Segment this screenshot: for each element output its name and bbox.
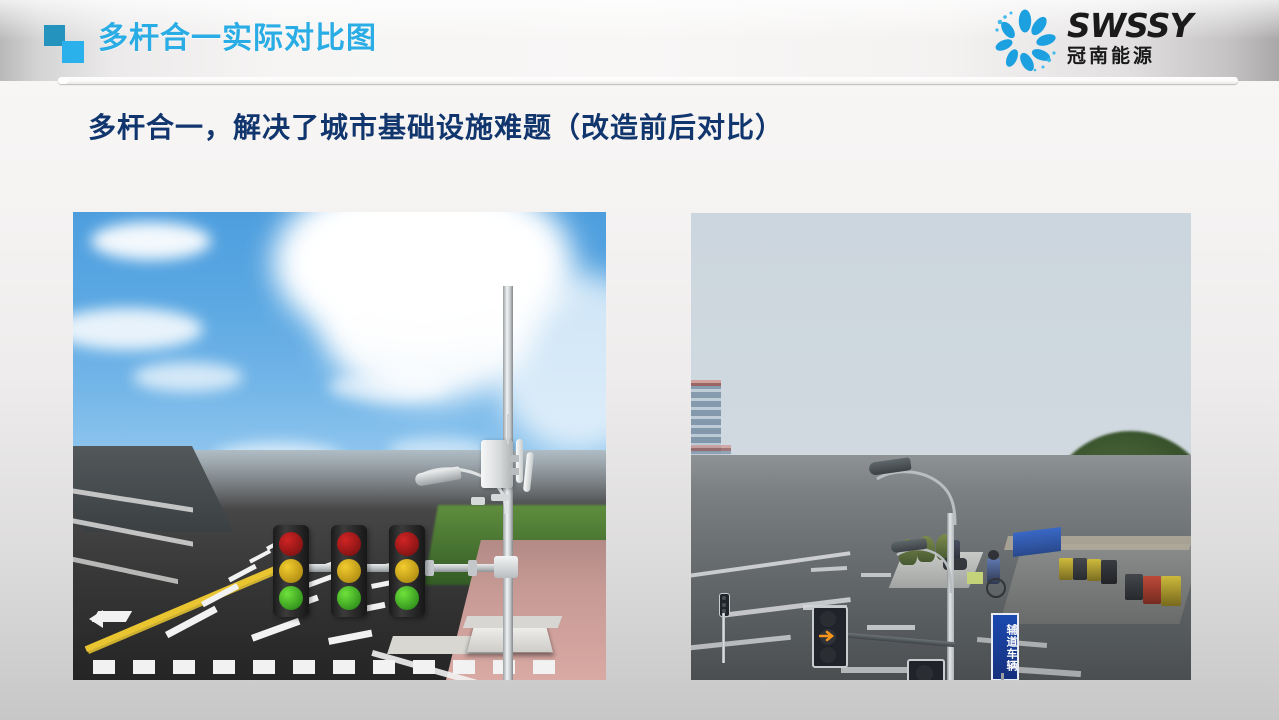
slide-subtitle: 多杆合一，解决了城市基础设施难题（改造前后对比） [88,106,784,146]
signal-red-lamp-icon [337,532,361,556]
parked-share-bike [1143,576,1161,604]
render-after-image [73,212,606,680]
lane-marking [867,625,915,630]
cloud [328,372,448,402]
signal-dark-lamp-icon [820,647,836,663]
parked-share-bike [1161,576,1181,606]
sign-post [1001,673,1004,680]
company-logo: SWSSY 冠南能源 [991,6,1261,76]
signal-green-lamp-icon [337,586,361,610]
cloud [133,362,243,392]
whip-antenna-icon [507,414,509,444]
signal-red-lamp-icon [395,532,419,556]
parked-share-bike [1101,560,1117,584]
cloud [91,222,211,260]
water-droplet-flower-icon [991,8,1059,74]
signal-dark-lamp-icon [820,611,836,627]
arm-pole-joint [494,556,518,578]
signal-yellow-lamp-icon [337,559,361,583]
5g-antenna-cabinet [481,440,513,488]
cyclist-head [988,550,999,560]
street-lamp-upper-arm [869,465,961,527]
left-turn-arrow-signal [812,606,848,668]
curb [1004,536,1191,550]
blue-canopy [1013,527,1061,557]
header-divider-cap [58,77,68,84]
lane-marking [691,635,791,653]
overhead-traffic-signal [907,659,945,680]
signal-green-lamp-icon [279,586,303,610]
traffic-signal-head [331,525,367,617]
signal-yellow-lamp-icon [395,559,419,583]
signal-yellow-lamp-icon [279,559,303,583]
lane-marking [328,630,373,645]
photo-before-image: 辅道车辆 [691,213,1191,680]
arm-bracket [425,560,434,576]
traffic-signal-head [273,525,309,617]
slide-header: 多杆合一实际对比图 [0,0,1279,81]
lane-marking [811,566,847,572]
sidewalk [1000,544,1191,624]
surveillance-camera-icon [491,494,509,501]
traffic-signal-head [389,525,425,617]
parked-share-bike [1059,558,1073,580]
header-divider-line [58,77,1238,84]
road-arrow-marking [89,610,103,628]
lane-marking [251,618,300,642]
arm-bracket [468,560,477,576]
signal-red-lamp-icon [279,532,303,556]
cyclist [987,558,1000,584]
lane-marking [249,549,271,563]
cargo-bag [967,572,983,584]
signal-dark-lamp-icon [916,665,933,680]
distant-signal-pole [722,613,725,663]
crosswalk-marking [93,660,563,674]
lane-marking [73,557,178,584]
parked-share-bike [1087,559,1101,581]
page-title: 多杆合一实际对比图 [98,17,377,61]
logo-brand-chinese: 冠南能源 [1067,44,1257,69]
square-decor-light-icon [62,41,84,63]
slide-root: 多杆合一实际对比图 [0,0,1279,720]
signal-green-lamp-icon [395,586,419,610]
blue-vertical-lane-sign: 辅道车辆 [991,613,1019,680]
surveillance-camera-icon [471,497,485,505]
street-lamp-pole [947,513,954,680]
bicycle-wheel-icon [986,578,1006,598]
antenna-mount [510,468,519,475]
logo-wordmark: SWSSY 冠南能源 [1067,8,1257,74]
antenna-mount [510,455,519,462]
signal-arrow-lamp-icon [819,628,837,644]
lane-marking [861,573,891,577]
parked-share-bike [1125,574,1143,600]
parked-share-bike [1073,558,1087,580]
lane-marking [691,551,850,579]
logo-brand-latin: SWSSY [1067,8,1257,44]
